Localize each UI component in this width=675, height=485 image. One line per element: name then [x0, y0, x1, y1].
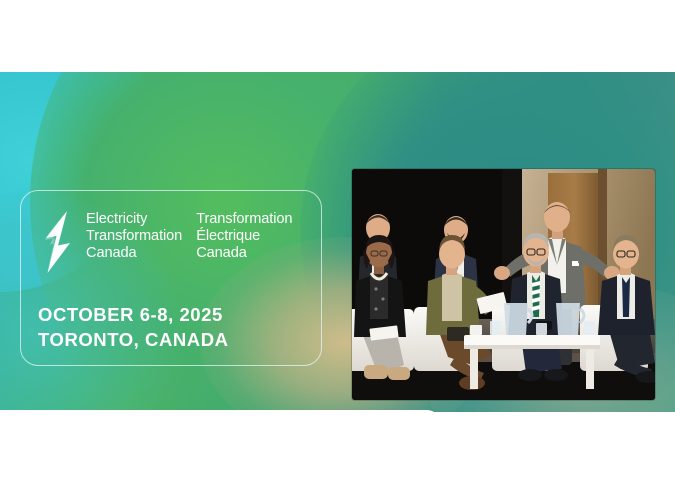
logo-lockup: Electricity Transformation Canada Transf… — [37, 211, 292, 273]
screenshot-root: Electricity Transformation Canada Transf… — [0, 0, 675, 485]
event-details: OCTOBER 6-8, 2025 TORONTO, CANADA — [38, 303, 229, 352]
event-promo-banner[interactable]: Electricity Transformation Canada Transf… — [0, 72, 675, 412]
brand-name-english: Electricity Transformation Canada — [86, 211, 182, 262]
brand-fr-line3: Canada — [196, 245, 292, 262]
brand-fr-line1: Transformation — [196, 211, 292, 228]
event-location-text: TORONTO, CANADA — [38, 328, 229, 353]
panel-discussion-photo — [352, 169, 655, 400]
brand-name-french: Transformation Électrique Canada — [196, 211, 292, 262]
lightning-bolt-icon — [37, 211, 77, 273]
brand-en-line2: Transformation — [86, 228, 182, 245]
brand-fr-line2: Électrique — [196, 228, 292, 245]
brand-en-line1: Electricity — [86, 211, 182, 228]
event-dates-text: OCTOBER 6-8, 2025 — [38, 303, 229, 328]
organizers-card: ORGANIZED BY — [0, 410, 440, 412]
panel-photo-illustration — [352, 169, 655, 400]
brand-en-line3: Canada — [86, 245, 182, 262]
brand-outline-box: Electricity Transformation Canada Transf… — [20, 190, 322, 366]
